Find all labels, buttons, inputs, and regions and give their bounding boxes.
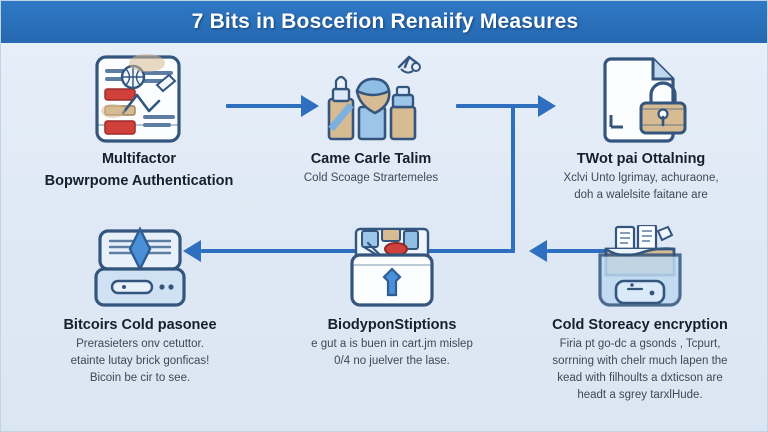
- card-subtitle-line2: sorrning with chelr much lapen the: [515, 354, 765, 369]
- card-subtitle-line3: kead with filhoults a dxticson are: [515, 371, 765, 386]
- card-title-line1: Multifactor: [23, 151, 255, 169]
- flow-step-cold-storage-encryption[interactable]: Cold Storeacy encryption Firia pt go-dc …: [515, 225, 765, 403]
- card-subtitle-line2: etainte lutay brick gonficas!: [9, 354, 271, 369]
- card-subtitle-line1: Prerasieters onv cetuttor.: [9, 337, 271, 352]
- card-title-line2: Bopwrpome Authentication: [23, 173, 255, 191]
- flow-step-backup-encryption-options[interactable]: BiodyponStiptions e gut a is buen in car…: [273, 225, 511, 369]
- card-subtitle-line3: Bicoin be cir to see.: [9, 371, 271, 386]
- card-subtitle-line4: headt a sgrey tarxlHude.: [515, 388, 765, 403]
- card-subtitle-line1: e gut a is buen in cart.jm mislep: [273, 337, 511, 352]
- card-title-line1: Came Carle Talim: [267, 151, 475, 169]
- card-title-line1: Bitcoirs Cold pasonee: [9, 317, 271, 335]
- card-title-line1: TWot pai Ottalning: [521, 151, 761, 169]
- infographic-canvas: 7 Bits in Boscefion Renaiify Measures: [0, 0, 768, 432]
- document-lock-icon: [521, 51, 761, 147]
- card-title-line1: BiodyponStiptions: [273, 317, 511, 335]
- card-title-line1: Cold Storeacy encryption: [515, 317, 765, 335]
- key-box-icon: [273, 225, 511, 313]
- hardware-wallet-icon: [9, 225, 271, 313]
- card-subtitle-line2: doh a walelsite faitane are: [521, 188, 761, 203]
- flow-step-cold-storage-strategies[interactable]: Came Carle Talim Cold Scoage Strartemele…: [267, 51, 475, 186]
- diagram-body: Multifactor Bopwrpome Authentication: [1, 43, 768, 432]
- flow-step-bitcoin-cold-passphrase[interactable]: Bitcoirs Cold pasonee Prerasieters onv c…: [9, 225, 271, 386]
- card-subtitle-line1: Cold Scoage Strartemeles: [267, 171, 475, 186]
- storage-containers-icon: [267, 51, 475, 147]
- flow-step-two-factor-obtaining[interactable]: TWot pai Ottalning Xclvi Unto lgrimay, a…: [521, 51, 761, 203]
- page-title: 7 Bits in Boscefion Renaiify Measures: [192, 10, 579, 34]
- flow-step-multifactor-authentication[interactable]: Multifactor Bopwrpome Authentication: [23, 51, 255, 190]
- header-banner: 7 Bits in Boscefion Renaiify Measures: [1, 1, 768, 43]
- card-subtitle-line2: 0/4 no juelver the lase.: [273, 354, 511, 369]
- card-subtitle-line1: Firia pt go-dc a gsonds , Tcpurt,: [515, 337, 765, 352]
- card-subtitle-line1: Xclvi Unto lgrimay, achuraone,: [521, 171, 761, 186]
- document-tray-icon: [515, 225, 765, 313]
- document-checklist-icon: [23, 51, 255, 147]
